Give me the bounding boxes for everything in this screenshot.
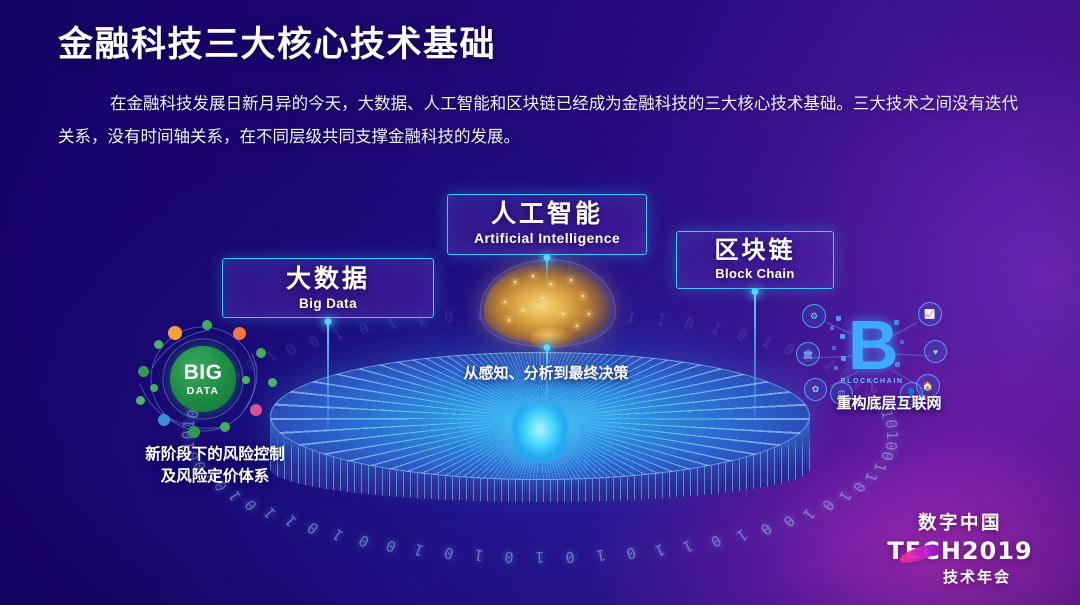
connector-stem-big-data [327,322,329,434]
blockchain-pixel [834,366,838,370]
brain-spark [576,325,578,327]
blockchain-pixel [840,334,845,339]
event-logo: 数字中国 TECH2019 技术年会 [876,509,1044,587]
brain-spark [542,297,544,299]
bitcoin-b-letter: B [848,310,894,384]
big-data-node-icon [150,384,158,392]
big-data-label-top: BIG [184,362,223,383]
pillar-card-big-data[interactable]: 大数据 Big Data [222,258,434,318]
pillar-title-cn-block-chain: 区块链 [677,238,833,264]
blockchain-chart-icon: 📈 [918,302,942,326]
brain-spark [514,281,516,283]
caption-big-data: 新阶段下的风险控制 及风险定价体系 [110,444,320,489]
big-data-node-icon [136,396,145,405]
connector-stem-ai [546,258,548,280]
blockchain-pixel [894,320,899,325]
pillar-card-block-chain[interactable]: 区块链 Block Chain [676,231,834,289]
brain-spark [562,313,564,315]
blockchain-pixel [900,340,904,344]
caption-ai-line1: 从感知、分析到最终决策 [431,363,661,385]
big-data-node-icon [138,366,149,377]
brain-spark [504,301,506,303]
logo-line-annual-conference: 技术年会 [910,566,1044,587]
caption-block-chain: 重构底层互联网 [804,393,974,415]
big-data-node-icon [256,348,266,358]
logo-line-digital-china: 数字中国 [876,509,1044,535]
caption-block-chain-line1: 重构底层互联网 [804,393,974,415]
brain-graphic [478,257,618,355]
blockchain-node-icon: ⚙ [802,304,826,328]
pillar-title-en-block-chain: Block Chain [677,266,833,281]
brain-stem [530,325,574,349]
pillar-title-cn-ai: 人工智能 [448,201,646,229]
blockchain-pixel [836,316,841,321]
blockchain-shield-icon: ♥ [924,340,947,363]
brain-spark [508,319,510,321]
blockchain-bank-icon: 🏛 [796,342,820,366]
blockchain-pixel [895,362,900,367]
intro-paragraph: 在金融科技发展日新月异的今天，大数据、人工智能和区块链已经成为金融科技的三大核心… [58,88,1018,154]
caption-ai: 从感知、分析到最终决策 [431,363,661,385]
big-data-icon-cluster: BIG DATA [132,318,282,438]
blockchain-icon-cluster: B BLOCKCHAIN ⚙ 🏛 ✿ 📈 ♥ 🏠 ⚖ 👤 [796,300,948,404]
big-data-node-icon [158,414,170,426]
blockchain-pixel [830,326,834,330]
pillar-title-cn-big-data: 大数据 [223,266,433,294]
pillar-title-en-ai: Artificial Intelligence [448,230,646,246]
brain-spark [532,275,534,277]
big-data-node-icon [268,378,277,387]
big-data-node-icon [220,422,230,432]
big-data-node-icon [242,376,250,384]
big-data-node-icon [233,327,246,340]
big-data-label-bottom: DATA [187,385,219,397]
blockchain-pixel [841,356,846,361]
big-data-node-icon [188,426,200,438]
brain-spark [522,309,524,311]
page-title: 金融科技三大核心技术基础 [58,16,496,67]
big-data-node-icon [168,326,182,340]
caption-big-data-line1: 新阶段下的风险控制 [110,444,320,466]
connector-stem-block-chain [754,292,756,422]
brain-spark [582,295,584,297]
disc-core [512,406,568,462]
slide-root: 1010100101101010101001011010100101011010… [0,0,1080,605]
brain-spark [588,313,590,315]
caption-big-data-line2: 及风险定价体系 [110,466,320,488]
blockchain-pixel [832,346,836,350]
brain-spark [570,279,572,281]
pillar-title-en-big-data: Big Data [223,296,433,311]
logo-wordmark-tech2019: TECH2019 [887,537,1032,565]
brain-spark [550,283,552,285]
big-data-node-icon [202,320,212,330]
big-data-node-icon [250,404,262,416]
pillar-card-artificial-intelligence[interactable]: 人工智能 Artificial Intelligence [447,194,647,255]
big-data-core-badge: BIG DATA [170,346,236,412]
intro-paragraph-text: 在金融科技发展日新月异的今天，大数据、人工智能和区块链已经成为金融科技的三大核心… [58,95,1018,146]
big-data-node-icon [154,340,163,349]
